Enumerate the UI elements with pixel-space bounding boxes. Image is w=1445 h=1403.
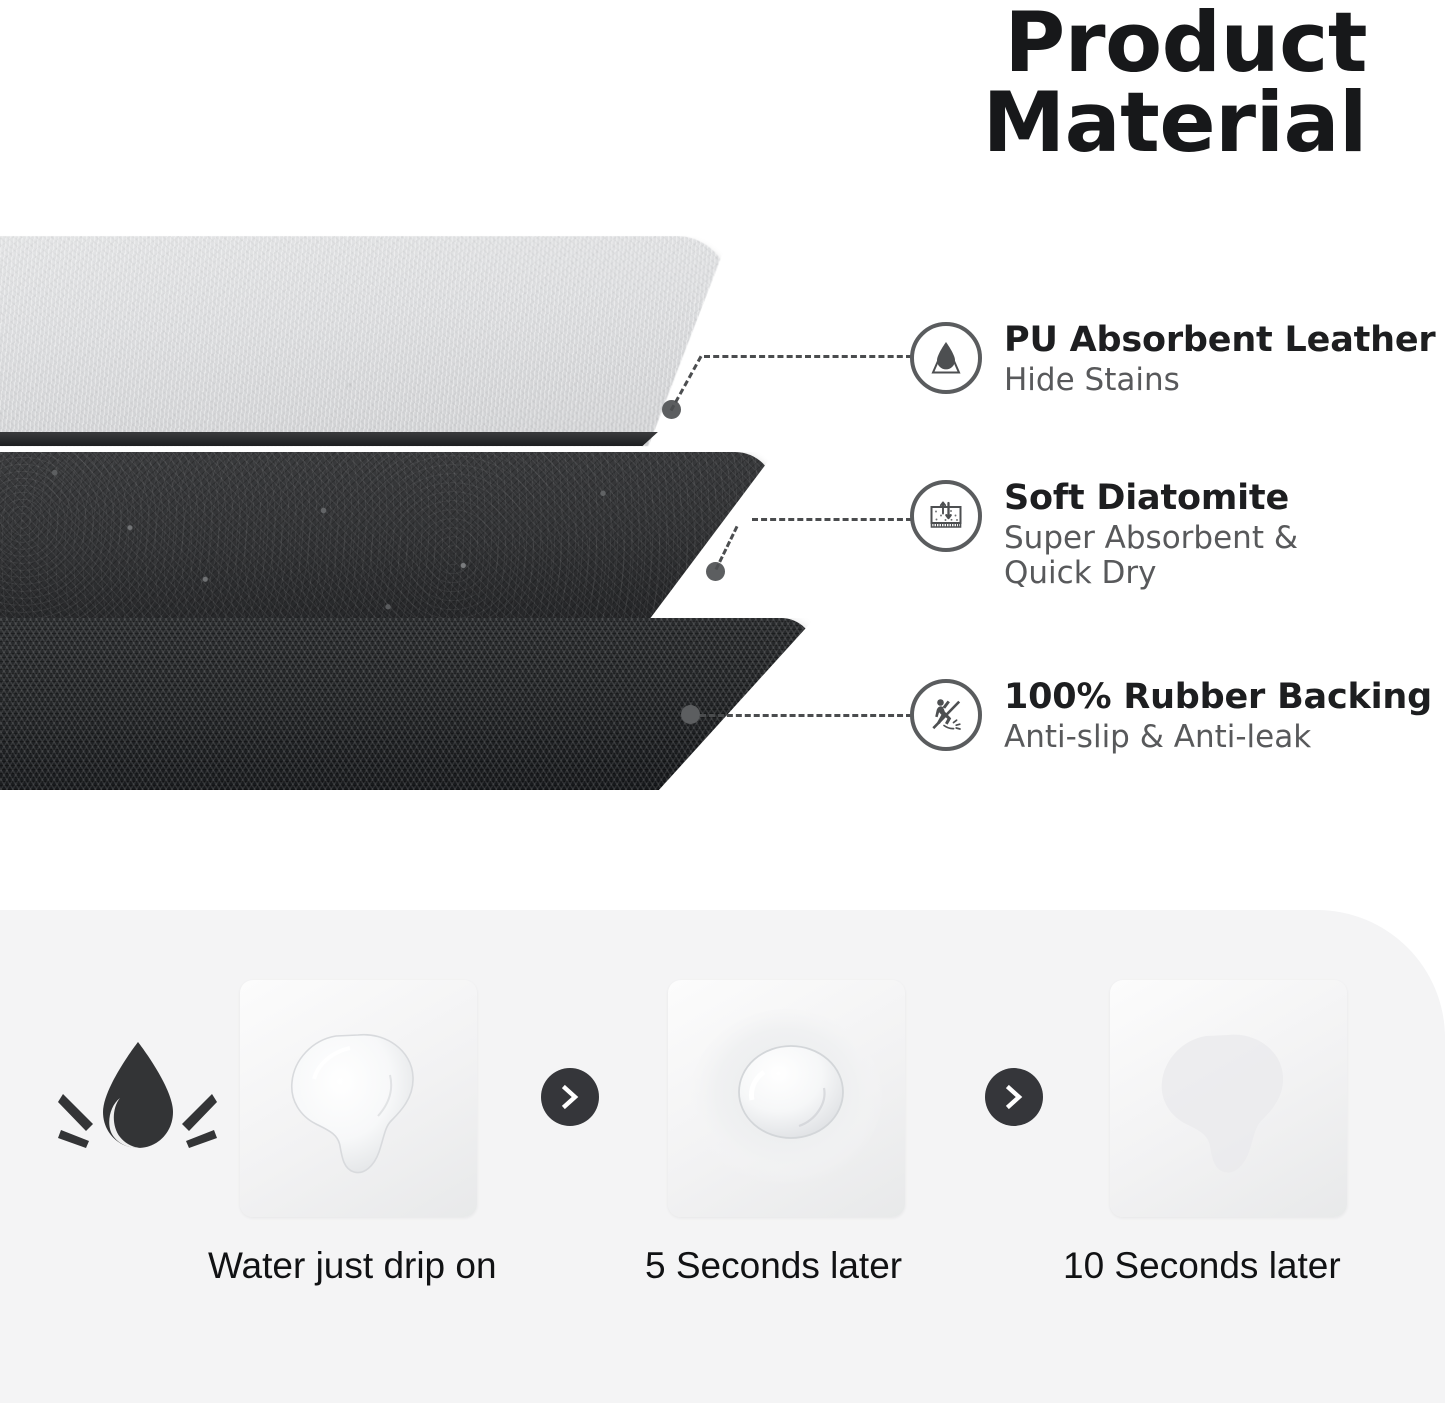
feature-title: Soft Diatomite bbox=[1004, 480, 1298, 518]
feature-rubber-backing: 100% Rubber Backing Anti-slip & Anti-lea… bbox=[910, 677, 1432, 755]
callout-line-rubber bbox=[700, 714, 912, 717]
feature-text-block: Soft Diatomite Super Absorbent & Quick D… bbox=[1004, 478, 1298, 591]
title-line-material: Material bbox=[747, 82, 1367, 164]
feature-text-block: PU Absorbent Leather Hide Stains bbox=[1004, 320, 1435, 398]
feature-title: 100% Rubber Backing bbox=[1004, 679, 1432, 717]
feature-subtitle-line: Anti-slip & Anti-leak bbox=[1004, 720, 1432, 755]
chevron-right-icon-1[interactable] bbox=[541, 1068, 599, 1126]
callout-line-diatomite bbox=[752, 518, 912, 521]
pu-leather-layer-edge bbox=[0, 432, 730, 446]
water-drop-splash-icon bbox=[52, 1036, 224, 1186]
feature-pu-absorbent-leather: PU Absorbent Leather Hide Stains bbox=[910, 320, 1435, 398]
feature-subtitle-line-2: Quick Dry bbox=[1004, 556, 1298, 591]
callout-dot-rubber bbox=[681, 705, 700, 724]
no-slip-person-icon bbox=[910, 679, 982, 751]
absorption-step-caption-1: Water just drip on bbox=[208, 1245, 497, 1287]
page-title: Product Material bbox=[747, 0, 1367, 164]
absorption-step-image-2 bbox=[668, 980, 905, 1217]
feature-soft-diatomite: Soft Diatomite Super Absorbent & Quick D… bbox=[910, 478, 1298, 591]
callout-line-pu bbox=[704, 355, 912, 358]
absorption-step-caption-2: 5 Seconds later bbox=[645, 1245, 902, 1287]
mat-layer-stack-illustration bbox=[0, 236, 830, 766]
absorption-step-caption-3: 10 Seconds later bbox=[1063, 1245, 1341, 1287]
title-line-product: Product bbox=[747, 2, 1367, 84]
feature-subtitle-line: Super Absorbent & bbox=[1004, 521, 1298, 556]
rubber-backing-layer bbox=[0, 618, 815, 790]
diatomite-layer bbox=[0, 452, 775, 624]
feature-title: PU Absorbent Leather bbox=[1004, 322, 1435, 360]
absorption-step-image-1 bbox=[240, 980, 477, 1217]
absorption-step-image-3 bbox=[1110, 980, 1347, 1217]
chevron-right-icon-2[interactable] bbox=[985, 1068, 1043, 1126]
feature-text-block: 100% Rubber Backing Anti-slip & Anti-lea… bbox=[1004, 677, 1432, 755]
diatomite-block-absorb-icon bbox=[910, 480, 982, 552]
feature-subtitle-line: Hide Stains bbox=[1004, 363, 1435, 398]
pu-leather-layer bbox=[0, 236, 731, 446]
droplet-on-surface-icon bbox=[910, 322, 982, 394]
